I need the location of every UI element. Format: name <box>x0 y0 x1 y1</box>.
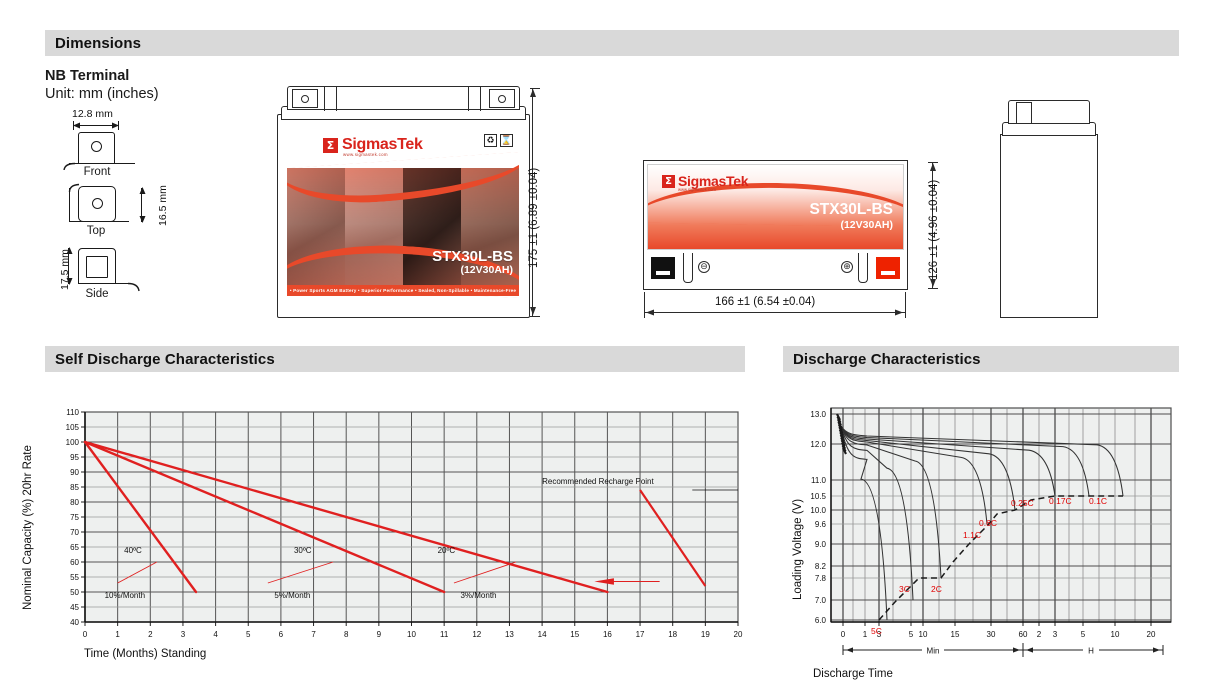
battery-side-view: Σ SigmasTek www.sigmastek.com STX30L-BS … <box>643 160 908 290</box>
svg-text:50: 50 <box>70 588 79 597</box>
battery-cell-divider <box>480 87 481 111</box>
terminal-depth-label: 16.5 mm <box>157 185 169 226</box>
svg-text:10: 10 <box>1111 630 1120 639</box>
negative-symbol-icon: ⊖ <box>698 261 710 273</box>
svg-text:95: 95 <box>70 453 79 462</box>
battery-end-lid <box>1002 122 1096 136</box>
terminal-front-base <box>69 163 135 164</box>
battery-rating-front: (12V30AH) <box>460 264 513 276</box>
svg-text:40: 40 <box>70 618 79 627</box>
svg-text:10.5: 10.5 <box>810 492 826 501</box>
terminal-side-caption: Side <box>73 288 121 300</box>
svg-text:12.0: 12.0 <box>810 440 826 449</box>
nb-terminal-heading: NB Terminal <box>45 68 129 84</box>
svg-text:12: 12 <box>472 630 481 639</box>
svg-text:30: 30 <box>987 630 996 639</box>
self-discharge-x-axis-title: Time (Months) Standing <box>84 648 206 660</box>
battery-negative-terminal <box>651 257 675 279</box>
svg-text:13: 13 <box>505 630 514 639</box>
svg-text:90: 90 <box>70 468 79 477</box>
svg-text:2: 2 <box>148 630 153 639</box>
svg-text:40ºC: 40ºC <box>124 546 142 555</box>
svg-text:6: 6 <box>279 630 284 639</box>
svg-text:2C: 2C <box>931 584 942 594</box>
side-height-dim-label: 126 ±1 (4.96 ±0.04) <box>928 180 940 280</box>
terminal-front-hole <box>91 141 102 152</box>
svg-text:20: 20 <box>1147 630 1156 639</box>
svg-text:5: 5 <box>909 630 914 639</box>
svg-text:8: 8 <box>344 630 349 639</box>
section-title-dimensions: Dimensions <box>55 35 141 52</box>
svg-text:15: 15 <box>570 630 579 639</box>
terminal-width-arrows <box>71 120 131 132</box>
battery-end-view <box>1000 86 1098 318</box>
svg-text:45: 45 <box>70 603 79 612</box>
svg-text:0: 0 <box>841 630 846 639</box>
svg-text:18: 18 <box>668 630 677 639</box>
section-title-discharge: Discharge Characteristics <box>793 351 981 368</box>
svg-text:5%/Month: 5%/Month <box>274 591 310 600</box>
svg-text:80: 80 <box>70 498 79 507</box>
svg-text:1: 1 <box>863 630 868 639</box>
svg-text:10: 10 <box>407 630 416 639</box>
svg-text:4: 4 <box>213 630 218 639</box>
svg-text:11.0: 11.0 <box>811 476 827 485</box>
battery-positive-terminal <box>876 257 900 279</box>
self-discharge-y-axis-title: Nominal Capacity (%) 20hr Rate <box>22 445 34 610</box>
self-discharge-chart: 4045505560657075808590951001051100123456… <box>45 400 745 670</box>
svg-text:0.1C: 0.1C <box>1089 496 1107 506</box>
svg-text:55: 55 <box>70 573 79 582</box>
svg-text:0.6C: 0.6C <box>979 518 997 528</box>
battery-side-label: Σ SigmasTek www.sigmastek.com STX30L-BS … <box>647 164 904 250</box>
svg-text:Recommended Recharge Point: Recommended Recharge Point <box>542 477 654 486</box>
svg-text:65: 65 <box>70 543 79 552</box>
svg-text:7: 7 <box>311 630 316 639</box>
unit-note: Unit: mm (inches) <box>45 86 159 102</box>
self-discharge-plot: 4045505560657075808590951001051100123456… <box>45 400 745 670</box>
terminal-depth-arrows <box>137 186 147 224</box>
side-width-arrows <box>643 307 908 319</box>
battery-end-case <box>1000 134 1098 318</box>
battery-post-left <box>683 253 693 283</box>
svg-text:7.0: 7.0 <box>815 596 827 605</box>
svg-text:H: H <box>1088 647 1094 656</box>
front-height-dim-label: 175 ±1 (6.89 ±0.04) <box>528 168 540 268</box>
terminal-side-corner <box>127 276 143 292</box>
sigma-mark-icon: Σ <box>662 175 675 188</box>
terminal-hole-icon <box>301 95 309 103</box>
svg-text:17: 17 <box>636 630 645 639</box>
battery-rating-side: (12V30AH) <box>840 219 893 231</box>
battery-model-side: STX30L-BS <box>809 201 893 219</box>
section-header-self-discharge: Self Discharge Characteristics <box>45 346 745 372</box>
section-title-self-discharge: Self Discharge Characteristics <box>55 351 275 368</box>
svg-text:8.2: 8.2 <box>815 562 827 571</box>
positive-symbol-icon: ⊕ <box>841 261 853 273</box>
svg-text:10%/Month: 10%/Month <box>105 591 145 600</box>
svg-text:60: 60 <box>70 558 79 567</box>
svg-text:11: 11 <box>440 630 449 639</box>
svg-text:105: 105 <box>66 423 80 432</box>
terminal-side-base <box>78 283 130 284</box>
svg-text:3: 3 <box>181 630 186 639</box>
svg-text:30ºC: 30ºC <box>294 546 312 555</box>
brand-url-side: www.sigmastek.com <box>678 187 716 192</box>
terminal-hole-icon <box>498 95 506 103</box>
svg-text:3C: 3C <box>899 584 910 594</box>
battery-terminal-right <box>489 89 515 108</box>
svg-text:10: 10 <box>919 630 928 639</box>
discharge-chart: 13.012.011.010.510.09.69.08.27.87.06.001… <box>783 396 1183 666</box>
section-header-dimensions: Dimensions <box>45 30 1179 56</box>
terminal-top-caption: Top <box>73 225 119 237</box>
svg-text:0.17C: 0.17C <box>1049 496 1072 506</box>
discharge-plot: 13.012.011.010.510.09.69.08.27.87.06.001… <box>783 396 1183 666</box>
side-width-dim-label: 166 ±1 (6.54 ±0.04) <box>715 296 815 308</box>
battery-cell-divider <box>468 87 469 111</box>
terminal-drawings: 12.8 mm Front Top 16.5 mm 17.5 mm Side <box>45 108 230 323</box>
svg-text:3: 3 <box>1053 630 1058 639</box>
terminal-width-label: 12.8 mm <box>72 108 113 120</box>
svg-text:6.0: 6.0 <box>815 616 827 625</box>
sigma-mark-icon: Σ <box>323 138 338 153</box>
svg-text:110: 110 <box>66 408 79 417</box>
disposal-icon: ⌛ <box>500 134 513 147</box>
terminal-front-caption: Front <box>75 166 119 178</box>
battery-front-top-cover <box>287 86 520 110</box>
svg-text:15: 15 <box>951 630 960 639</box>
svg-text:9: 9 <box>377 630 382 639</box>
battery-model-front: STX30L-BS <box>432 248 513 265</box>
svg-text:0: 0 <box>83 630 88 639</box>
section-header-discharge: Discharge Characteristics <box>783 346 1179 372</box>
svg-text:Min: Min <box>927 647 940 656</box>
svg-text:19: 19 <box>701 630 710 639</box>
svg-text:60: 60 <box>1019 630 1028 639</box>
svg-text:13.0: 13.0 <box>810 410 826 419</box>
svg-text:9.0: 9.0 <box>815 540 827 549</box>
svg-text:75: 75 <box>70 513 79 522</box>
svg-text:20: 20 <box>734 630 743 639</box>
svg-text:1.1C: 1.1C <box>963 530 981 540</box>
battery-terminal-left <box>292 89 318 108</box>
terminal-top-left-edge <box>69 188 70 222</box>
terminal-top-base <box>69 221 129 222</box>
svg-text:20ºC: 20ºC <box>438 546 456 555</box>
svg-text:3%/Month: 3%/Month <box>460 591 496 600</box>
svg-text:100: 100 <box>66 438 80 447</box>
svg-text:16: 16 <box>603 630 612 639</box>
svg-text:7.8: 7.8 <box>815 574 827 583</box>
terminal-top-corner <box>68 183 82 193</box>
terminal-slot-icon <box>881 271 895 275</box>
battery-cell-divider <box>324 87 325 111</box>
battery-label-icons: ♻ ⌛ <box>484 134 513 147</box>
terminal-top-hole <box>92 198 103 209</box>
discharge-x-axis-title: Discharge Time <box>813 668 893 680</box>
svg-text:14: 14 <box>538 630 547 639</box>
battery-end-notch <box>1016 102 1032 124</box>
svg-text:1: 1 <box>115 630 120 639</box>
recycle-icon: ♻ <box>484 134 497 147</box>
battery-front-label: Σ SigmasTek www.sigmastek.com ♻ ⌛ STX30L… <box>287 130 519 300</box>
brand-url-front: www.sigmastek.com <box>343 152 388 157</box>
svg-text:5: 5 <box>1081 630 1086 639</box>
svg-text:2: 2 <box>1037 630 1042 639</box>
terminal-height-label: 17.5 mm <box>59 249 71 290</box>
svg-text:0.25C: 0.25C <box>1011 498 1034 508</box>
svg-text:85: 85 <box>70 483 79 492</box>
svg-text:5: 5 <box>246 630 251 639</box>
svg-text:70: 70 <box>70 528 79 537</box>
battery-post-right <box>858 253 868 283</box>
battery-cell-divider <box>336 87 337 111</box>
svg-text:9.6: 9.6 <box>815 520 827 529</box>
battery-front-view: Σ SigmasTek www.sigmastek.com ♻ ⌛ STX30L… <box>277 86 530 318</box>
svg-text:10.0: 10.0 <box>810 506 826 515</box>
svg-text:5C: 5C <box>871 626 882 636</box>
battery-feature-strip: • Power Sports AGM Battery • Superior Pe… <box>287 285 519 296</box>
terminal-slot-icon <box>656 271 670 275</box>
discharge-y-axis-title: Loading Voltage (V) <box>792 499 804 600</box>
terminal-side-inner <box>86 256 108 278</box>
